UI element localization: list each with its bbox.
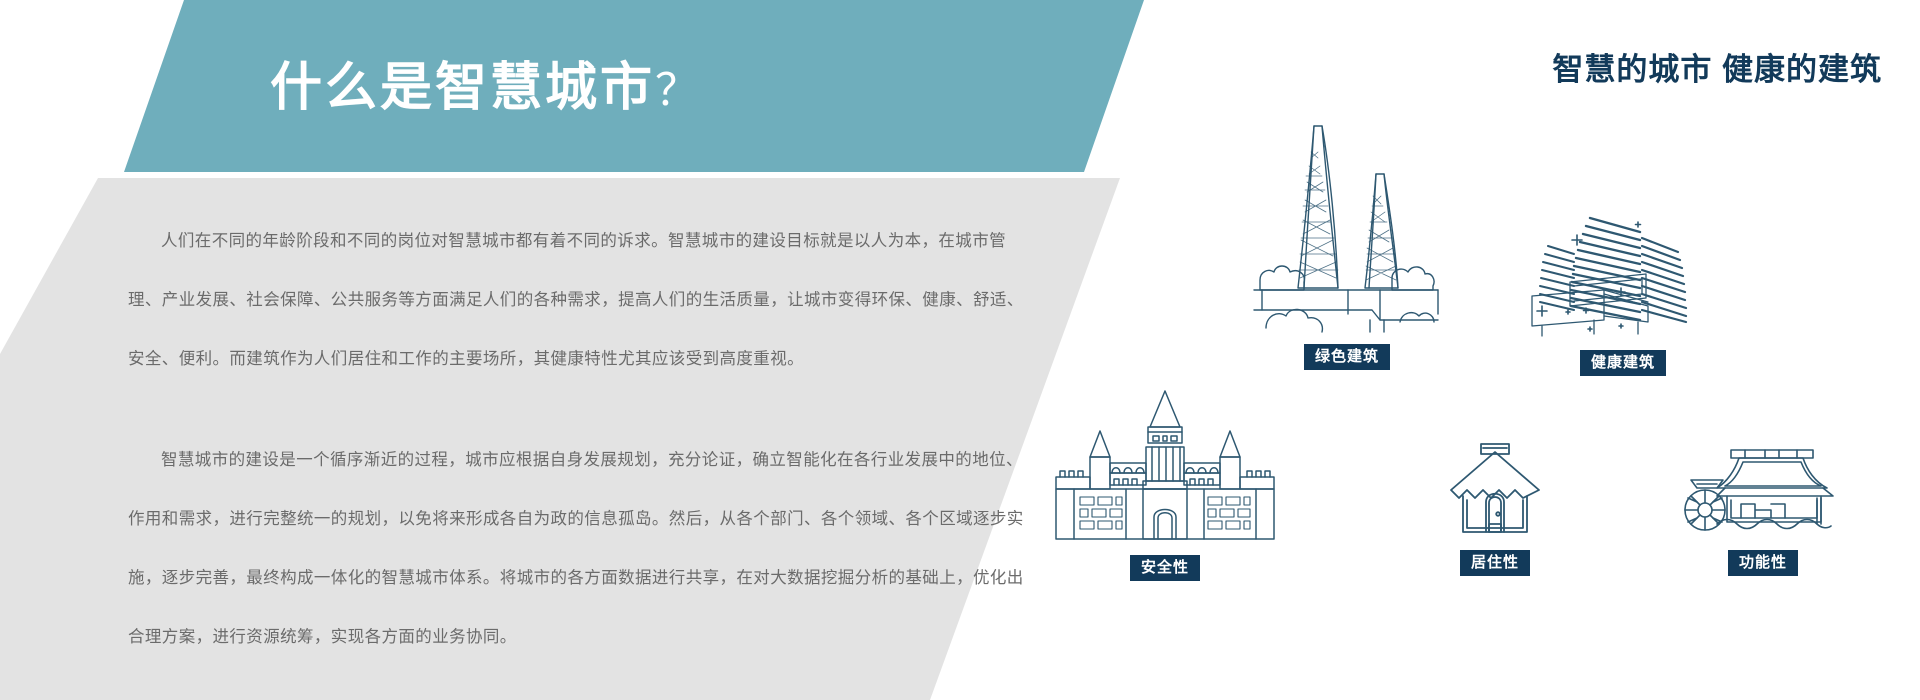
page-title-text: 什么是智慧城市 [270, 59, 655, 117]
illustration-healthy-building: 健康建筑 [1528, 210, 1718, 376]
badge-livability: 居住性 [1460, 550, 1530, 576]
paragraph-1: 人们在不同的年龄阶段和不同的岗位对智慧城市都有着不同的诉求。智慧城市的建设目标就… [128, 212, 1033, 389]
castle-icon [1050, 385, 1280, 545]
illustration-livability: 居住性 [1445, 440, 1545, 576]
poster-canvas: 什么是智慧城市？ 智慧的城市 健康的建筑 人们在不同的年龄阶段和不同的岗位对智慧… [0, 0, 1920, 700]
body-copy: 人们在不同的年龄阶段和不同的岗位对智慧城市都有着不同的诉求。智慧城市的建设目标就… [128, 212, 1033, 667]
page-title: 什么是智慧城市？ [270, 45, 702, 120]
illustration-safety: 安全性 [1050, 385, 1280, 581]
label-wrap-green-building: 绿色建筑 [1252, 344, 1442, 370]
badge-safety: 安全性 [1130, 555, 1200, 581]
illustration-group: 绿色建筑 [1020, 100, 1920, 700]
label-wrap-healthy-building: 健康建筑 [1528, 350, 1718, 376]
badge-healthy-building: 健康建筑 [1580, 350, 1666, 376]
paragraph-2: 智慧城市的建设是一个循序渐近的过程，城市应根据自身发展规划，充分论证，确立智能化… [128, 431, 1033, 667]
label-wrap-livability: 居住性 [1445, 550, 1545, 576]
badge-green-building: 绿色建筑 [1304, 344, 1390, 370]
label-wrap-safety: 安全性 [1050, 555, 1280, 581]
hospital-buildings-icon [1528, 210, 1718, 340]
badge-functionality: 功能性 [1728, 550, 1798, 576]
illustration-green-building: 绿色建筑 [1252, 114, 1442, 370]
pavilion-watermill-icon [1683, 440, 1843, 540]
label-wrap-functionality: 功能性 [1683, 550, 1843, 576]
right-headline: 智慧的城市 健康的建筑 [1552, 44, 1882, 89]
page-title-question-mark: ？ [655, 66, 702, 115]
house-icon [1445, 440, 1545, 540]
twin-towers-icon [1252, 114, 1442, 334]
illustration-functionality: 功能性 [1683, 440, 1843, 576]
